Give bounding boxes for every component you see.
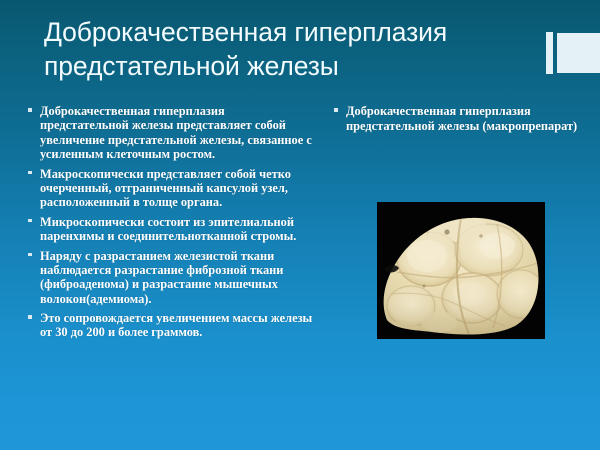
left-content-column: Доброкачественная гиперплазия предстател… bbox=[26, 104, 316, 345]
page-title: Доброкачественная гиперплазия предстател… bbox=[44, 16, 524, 84]
flag-block-decoration-icon bbox=[530, 32, 600, 74]
presentation-slide: Доброкачественная гиперплазия предстател… bbox=[0, 0, 600, 450]
right-bullet-list: Доброкачественная гиперплазия предстател… bbox=[332, 104, 588, 134]
list-item: Наряду с разрастанием железистой ткани н… bbox=[26, 249, 316, 307]
list-item: Это сопровождается увеличением массы жел… bbox=[26, 311, 316, 340]
specimen-photo-figure bbox=[377, 202, 545, 339]
left-bullet-list: Доброкачественная гиперплазия предстател… bbox=[26, 104, 316, 340]
macroscopic-specimen-image bbox=[377, 202, 545, 339]
right-content-column: Доброкачественная гиперплазия предстател… bbox=[332, 104, 588, 134]
list-item: Микроскопически состоит из эпителиальной… bbox=[26, 215, 316, 244]
title-block: Доброкачественная гиперплазия предстател… bbox=[44, 16, 524, 84]
list-item: Макроскопически представляет собой четко… bbox=[26, 167, 316, 210]
content-columns: Доброкачественная гиперплазия предстател… bbox=[0, 104, 600, 404]
list-item: Доброкачественная гиперплазия предстател… bbox=[26, 104, 316, 162]
decoration-block bbox=[557, 33, 600, 73]
list-item: Доброкачественная гиперплазия предстател… bbox=[332, 104, 588, 134]
decoration-bar bbox=[546, 32, 553, 74]
